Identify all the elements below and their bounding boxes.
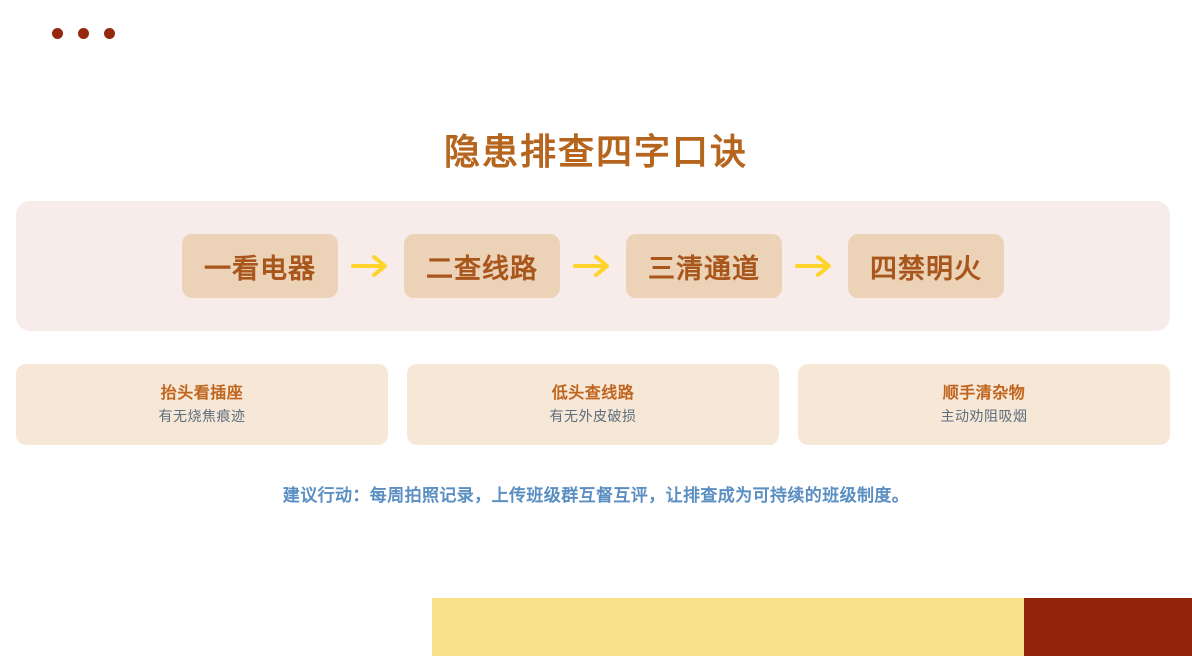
flow-step-label: 四禁明火: [870, 247, 982, 286]
flow-step-label: 二查线路: [426, 247, 538, 286]
tip-card[interactable]: 顺手清杂物 主动劝阻吸烟: [798, 364, 1170, 445]
window-dots: [52, 28, 115, 39]
window-dot-icon: [52, 28, 63, 39]
footer-bar-yellow: [432, 598, 1024, 656]
flow-step-label: 一看电器: [204, 247, 316, 286]
page-title: 隐患排查四字口诀: [0, 130, 1192, 173]
tip-cards-row: 抬头看插座 有无烧焦痕迹 低头查线路 有无外皮破损 顺手清杂物 主动劝阻吸烟: [16, 364, 1170, 445]
tip-card-subtitle: 有无外皮破损: [550, 407, 637, 427]
flow-row: 一看电器 二查线路 三清通道 四禁明火: [182, 234, 1004, 298]
flow-step-label: 三清通道: [648, 247, 760, 286]
flow-step-4[interactable]: 四禁明火: [848, 234, 1004, 298]
tip-card-title: 抬头看插座: [161, 383, 244, 405]
arrow-right-icon: [338, 254, 404, 278]
flow-step-2[interactable]: 二查线路: [404, 234, 560, 298]
tip-card[interactable]: 抬头看插座 有无烧焦痕迹: [16, 364, 388, 445]
tip-card-subtitle: 有无烧焦痕迹: [159, 407, 246, 427]
suggestion-text: 建议行动：每周拍照记录，上传班级群互督互评，让排查成为可持续的班级制度。: [0, 481, 1192, 506]
window-dot-icon: [78, 28, 89, 39]
arrow-right-icon: [560, 254, 626, 278]
flow-step-1[interactable]: 一看电器: [182, 234, 338, 298]
flow-panel: 一看电器 二查线路 三清通道 四禁明火: [16, 201, 1170, 331]
tip-card[interactable]: 低头查线路 有无外皮破损: [407, 364, 779, 445]
arrow-right-icon: [782, 254, 848, 278]
tip-card-title: 低头查线路: [552, 383, 635, 405]
window-dot-icon: [104, 28, 115, 39]
flow-step-3[interactable]: 三清通道: [626, 234, 782, 298]
footer-bar-red: [1024, 598, 1192, 656]
tip-card-title: 顺手清杂物: [943, 383, 1026, 405]
tip-card-subtitle: 主动劝阻吸烟: [941, 407, 1028, 427]
